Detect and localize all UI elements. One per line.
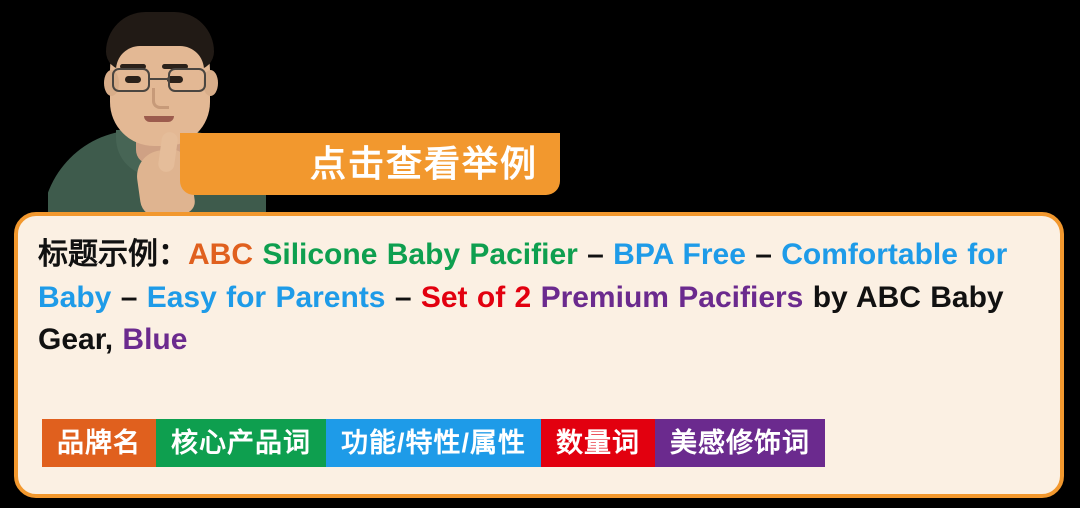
legend-tag-label: 功能/特性/属性 (341, 430, 526, 457)
title-segment-separator: – (746, 238, 781, 271)
presenter-nose (152, 88, 169, 109)
presenter-hair (106, 12, 214, 70)
legend-tag-label: 数量词 (556, 430, 640, 457)
title-segment-core-product: Silicone Baby Pacifier (262, 238, 577, 271)
title-segment-feature: Easy for Parents (147, 281, 386, 314)
title-segment-label: 标题示例： (38, 238, 188, 271)
title-segment-space (253, 238, 262, 271)
title-segment-separator: – (578, 238, 613, 271)
glasses-lens-left (112, 68, 150, 92)
legend-tag[interactable]: 核心产品词 (156, 419, 326, 467)
cta-banner[interactable]: 点击查看举例 (180, 133, 560, 195)
title-segment-feature: BPA Free (613, 238, 746, 271)
slide-canvas: 点击查看举例 标题示例：ABC Silicone Baby Pacifier –… (0, 0, 1080, 508)
legend-tag[interactable]: 数量词 (541, 419, 655, 467)
legend-tag[interactable]: 美感修饰词 (655, 419, 825, 467)
legend-tag-label: 品牌名 (57, 430, 141, 457)
title-segment-aesthetic: Premium Pacifiers (541, 281, 804, 314)
glasses-lens-right (168, 68, 206, 92)
title-example-text: 标题示例：ABC Silicone Baby Pacifier – BPA Fr… (38, 234, 1040, 362)
legend-tag-row: 品牌名核心产品词功能/特性/属性数量词美感修饰词 (42, 419, 825, 467)
presenter-mouth (144, 116, 174, 122)
title-segment-quantity: Set of 2 (421, 281, 531, 314)
title-segment-brand: ABC (188, 238, 253, 271)
title-segment-separator: – (386, 281, 421, 314)
legend-tag[interactable]: 功能/特性/属性 (326, 419, 541, 467)
legend-tag-label: 美感修饰词 (670, 430, 810, 457)
title-segment-separator: – (111, 281, 146, 314)
legend-tag-label: 核心产品词 (171, 430, 311, 457)
legend-tag[interactable]: 品牌名 (42, 419, 156, 467)
title-segment-space (531, 281, 540, 314)
title-segment-aesthetic: Blue (122, 323, 187, 356)
glasses-bridge (150, 78, 168, 80)
cta-banner-label: 点击查看举例 (310, 146, 538, 182)
example-card: 标题示例：ABC Silicone Baby Pacifier – BPA Fr… (14, 212, 1064, 498)
